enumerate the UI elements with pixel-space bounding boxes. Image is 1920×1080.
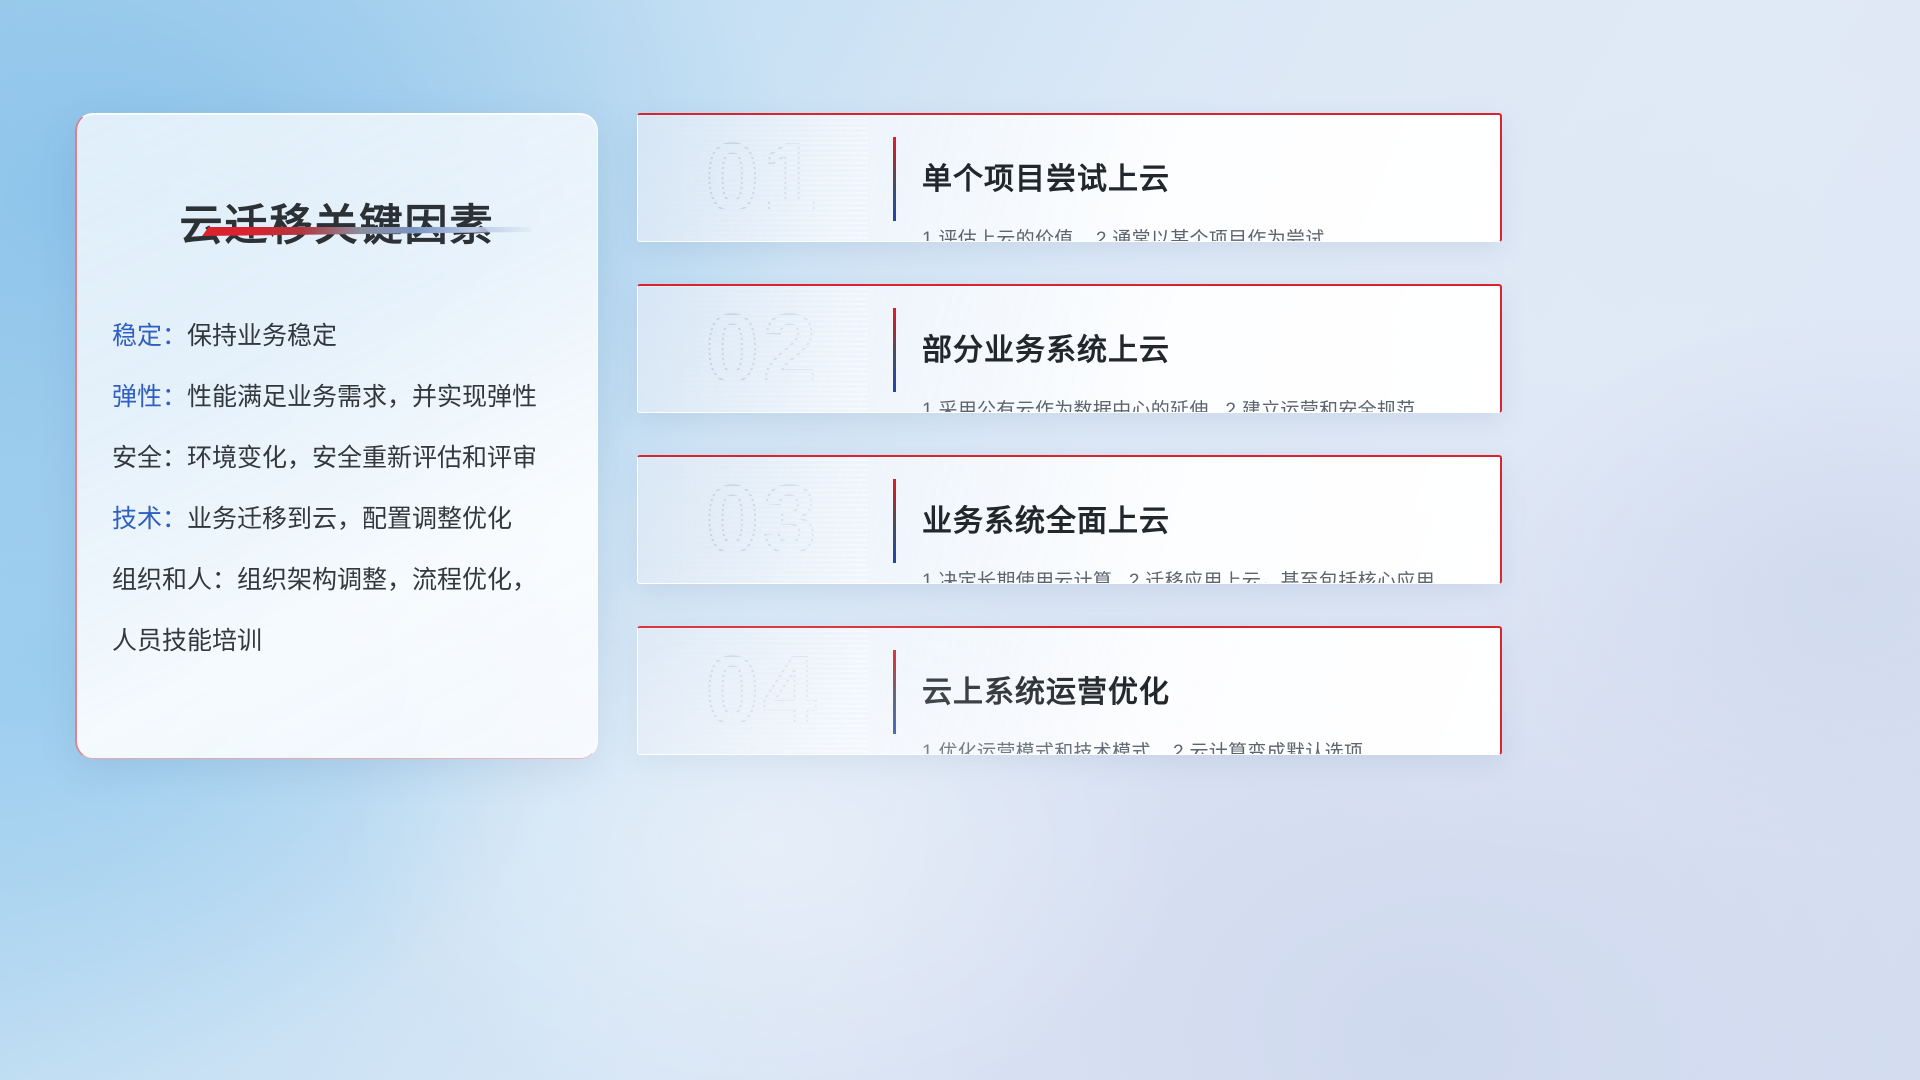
- stage-number-watermark: 01: [658, 117, 868, 239]
- card-description: 1.评估上云的价值 2.通常以某个项目作为尝试: [922, 227, 1482, 242]
- card-body: 部分业务系统上云 1.采用公有云作为数据中心的延伸 2.建立运营和安全规范: [922, 304, 1482, 413]
- stage-card[interactable]: 03 业务系统全面上云 1.决定长期使用云计算 2.迁移应用上云，甚至包括核心应…: [637, 455, 1502, 584]
- factor-text: 保持业务稳定: [187, 322, 337, 350]
- factor-label: 稳定：: [112, 322, 187, 350]
- factor-label: 组织和人：: [112, 566, 237, 594]
- factor-text: 组织架构调整，流程优化，: [237, 566, 537, 594]
- factor-label: 弹性：: [112, 383, 187, 411]
- card-title: 单个项目尝试上云: [922, 158, 1482, 202]
- stage-number-watermark: 04: [658, 630, 868, 752]
- panel-title: 云迁移关键因素: [77, 191, 597, 253]
- card-body: 云上系统运营优化 1.优化运营模式和技术模式 2.云计算变成默认选项: [922, 646, 1482, 755]
- list-item: 组织和人：组织架构调整，流程优化，: [112, 550, 577, 611]
- factor-label: 安全：: [112, 444, 187, 472]
- stage-number-watermark: 02: [658, 288, 868, 410]
- factor-label: 技术：: [112, 505, 187, 533]
- card-title: 云上系统运营优化: [922, 671, 1482, 715]
- stage-card[interactable]: 01 单个项目尝试上云 1.评估上云的价值 2.通常以某个项目作为尝试: [637, 113, 1502, 242]
- card-accent-divider: [893, 308, 896, 392]
- card-title: 业务系统全面上云: [922, 500, 1482, 544]
- key-factors-panel: 云迁移关键因素 稳定：保持业务稳定 弹性：性能满足业务需求，并实现弹性 安全：环…: [75, 113, 598, 759]
- card-accent-divider: [893, 650, 896, 734]
- slide-canvas: 云迁移关键因素 稳定：保持业务稳定 弹性：性能满足业务需求，并实现弹性 安全：环…: [0, 0, 1920, 1080]
- factor-text: 环境变化，安全重新评估和评审: [187, 444, 537, 472]
- stage-number-watermark: 03: [658, 459, 868, 581]
- card-accent-divider: [893, 137, 896, 221]
- list-item: 技术：业务迁移到云，配置调整优化: [112, 489, 577, 550]
- list-item-continuation: 人员技能培训: [112, 611, 577, 672]
- factor-text: 业务迁移到云，配置调整优化: [187, 505, 512, 533]
- stage-card[interactable]: 02 部分业务系统上云 1.采用公有云作为数据中心的延伸 2.建立运营和安全规范: [637, 284, 1502, 413]
- list-item: 弹性：性能满足业务需求，并实现弹性: [112, 367, 577, 428]
- card-description: 1.采用公有云作为数据中心的延伸 2.建立运营和安全规范: [922, 398, 1482, 413]
- key-factors-list: 稳定：保持业务稳定 弹性：性能满足业务需求，并实现弹性 安全：环境变化，安全重新…: [112, 306, 577, 672]
- card-description: 1.决定长期使用云计算 2.迁移应用上云，甚至包括核心应用: [922, 569, 1482, 584]
- card-body: 单个项目尝试上云 1.评估上云的价值 2.通常以某个项目作为尝试: [922, 133, 1482, 242]
- card-title: 部分业务系统上云: [922, 329, 1482, 373]
- factor-text: 性能满足业务需求，并实现弹性: [187, 383, 537, 411]
- list-item: 稳定：保持业务稳定: [112, 306, 577, 367]
- card-body: 业务系统全面上云 1.决定长期使用云计算 2.迁移应用上云，甚至包括核心应用: [922, 475, 1482, 584]
- list-item: 安全：环境变化，安全重新评估和评审: [112, 428, 577, 489]
- factor-text: 人员技能培训: [112, 627, 262, 655]
- card-description: 1.优化运营模式和技术模式 2.云计算变成默认选项: [922, 740, 1482, 755]
- card-accent-divider: [893, 479, 896, 563]
- stage-card[interactable]: 04 云上系统运营优化 1.优化运营模式和技术模式 2.云计算变成默认选项: [637, 626, 1502, 755]
